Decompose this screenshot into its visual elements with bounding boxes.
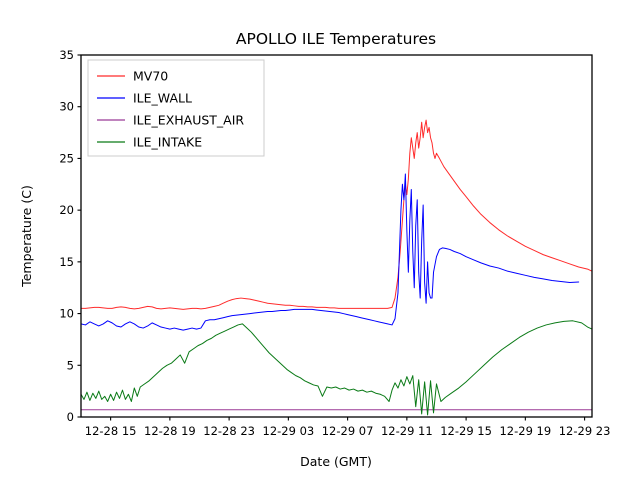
y-tick-label: 35 <box>59 48 74 62</box>
figure-canvas: APOLLO ILE Temperatures 05101520253035 1… <box>0 0 640 480</box>
y-tick-label: 25 <box>59 151 74 165</box>
legend-label-ile_wall[interactable]: ILE_WALL <box>133 91 192 106</box>
y-tick-label: 20 <box>59 203 74 217</box>
x-tick-label: 12-29 23 <box>559 424 611 438</box>
x-tick-label: 12-29 15 <box>440 424 492 438</box>
chart-legend[interactable]: MV70ILE_WALLILE_EXHAUST_AIRILE_INTAKE <box>88 60 264 156</box>
y-tick-label: 5 <box>67 358 74 372</box>
legend-label-mv70[interactable]: MV70 <box>133 69 168 84</box>
y-tick-label: 30 <box>59 100 74 114</box>
x-tick-label: 12-28 15 <box>85 424 137 438</box>
x-tick-label: 12-29 03 <box>263 424 315 438</box>
x-tick-label: 12-29 11 <box>381 424 433 438</box>
x-tick-label: 12-29 19 <box>499 424 551 438</box>
x-tick-label: 12-28 19 <box>144 424 196 438</box>
legend-label-ile_exhaust_air[interactable]: ILE_EXHAUST_AIR <box>133 113 244 128</box>
x-axis-label: Date (GMT) <box>300 454 372 469</box>
y-tick-label: 10 <box>59 307 74 321</box>
x-tick-label: 12-28 23 <box>203 424 255 438</box>
legend-label-ile_intake[interactable]: ILE_INTAKE <box>133 135 202 150</box>
y-tick-label: 0 <box>67 410 74 424</box>
y-tick-label: 15 <box>59 255 74 269</box>
x-tick-label: 12-29 07 <box>322 424 374 438</box>
temperature-line-chart: APOLLO ILE Temperatures 05101520253035 1… <box>0 0 640 480</box>
chart-title: APOLLO ILE Temperatures <box>236 30 436 48</box>
y-axis-label: Temperature (C) <box>19 185 34 288</box>
